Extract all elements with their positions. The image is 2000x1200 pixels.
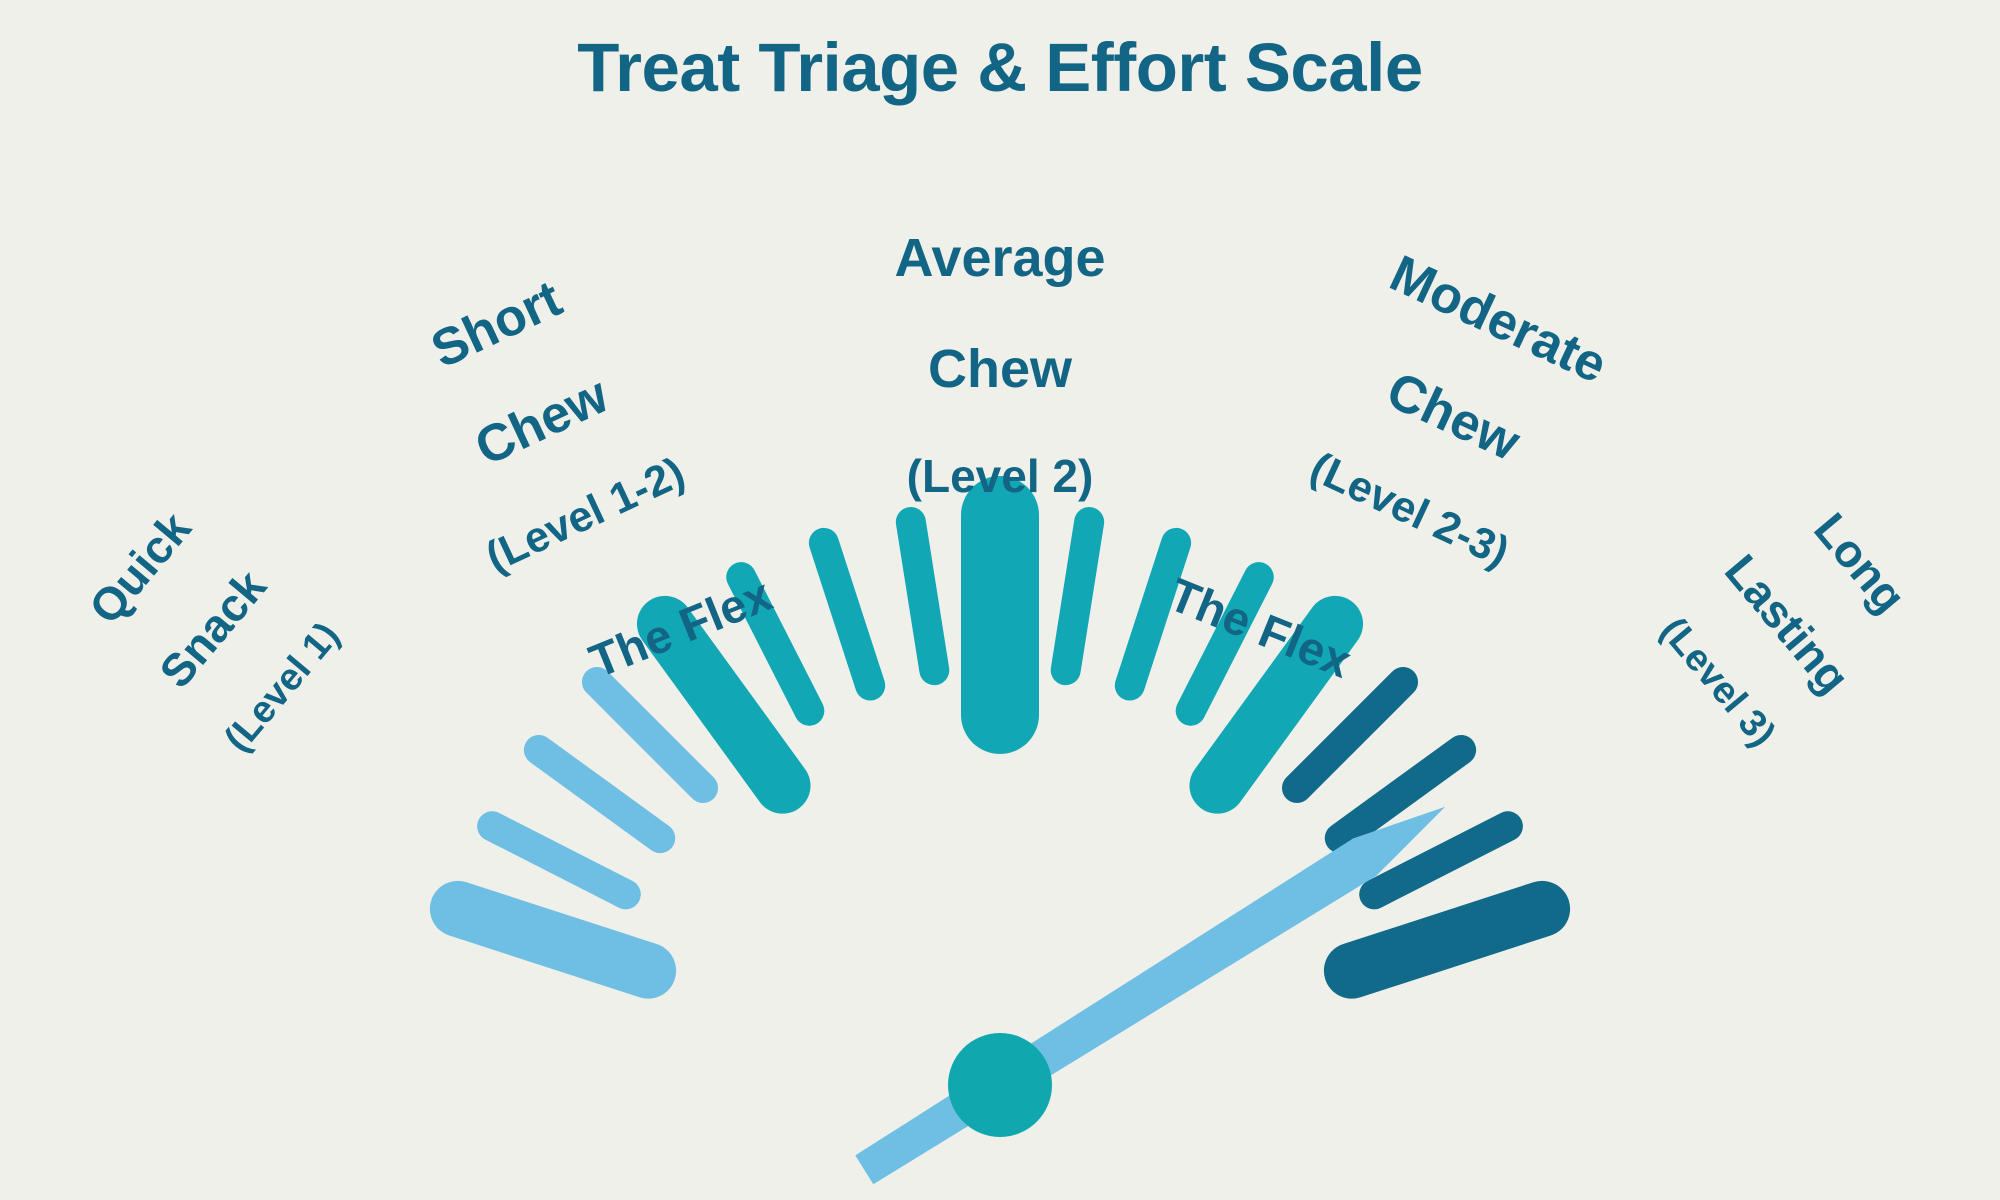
zone-label-line1: Average [840, 231, 1160, 287]
zone-label-line3: (Level 2) [840, 453, 1160, 500]
zone-label-average-chew: Average Chew (Level 2) [840, 175, 1160, 556]
gauge-chart-canvas: Treat Triage & Effort Scale Quick Snack … [0, 0, 2000, 1200]
gauge-tick [1352, 909, 1542, 971]
gauge-hub[interactable] [948, 1033, 1052, 1137]
gauge-tick [492, 826, 626, 894]
zone-label-line2: Chew [840, 342, 1160, 398]
gauge-tick [458, 909, 648, 971]
gauge-tick [824, 543, 870, 686]
gauge-tick-group [458, 515, 1542, 971]
gauge-tick [539, 750, 660, 838]
